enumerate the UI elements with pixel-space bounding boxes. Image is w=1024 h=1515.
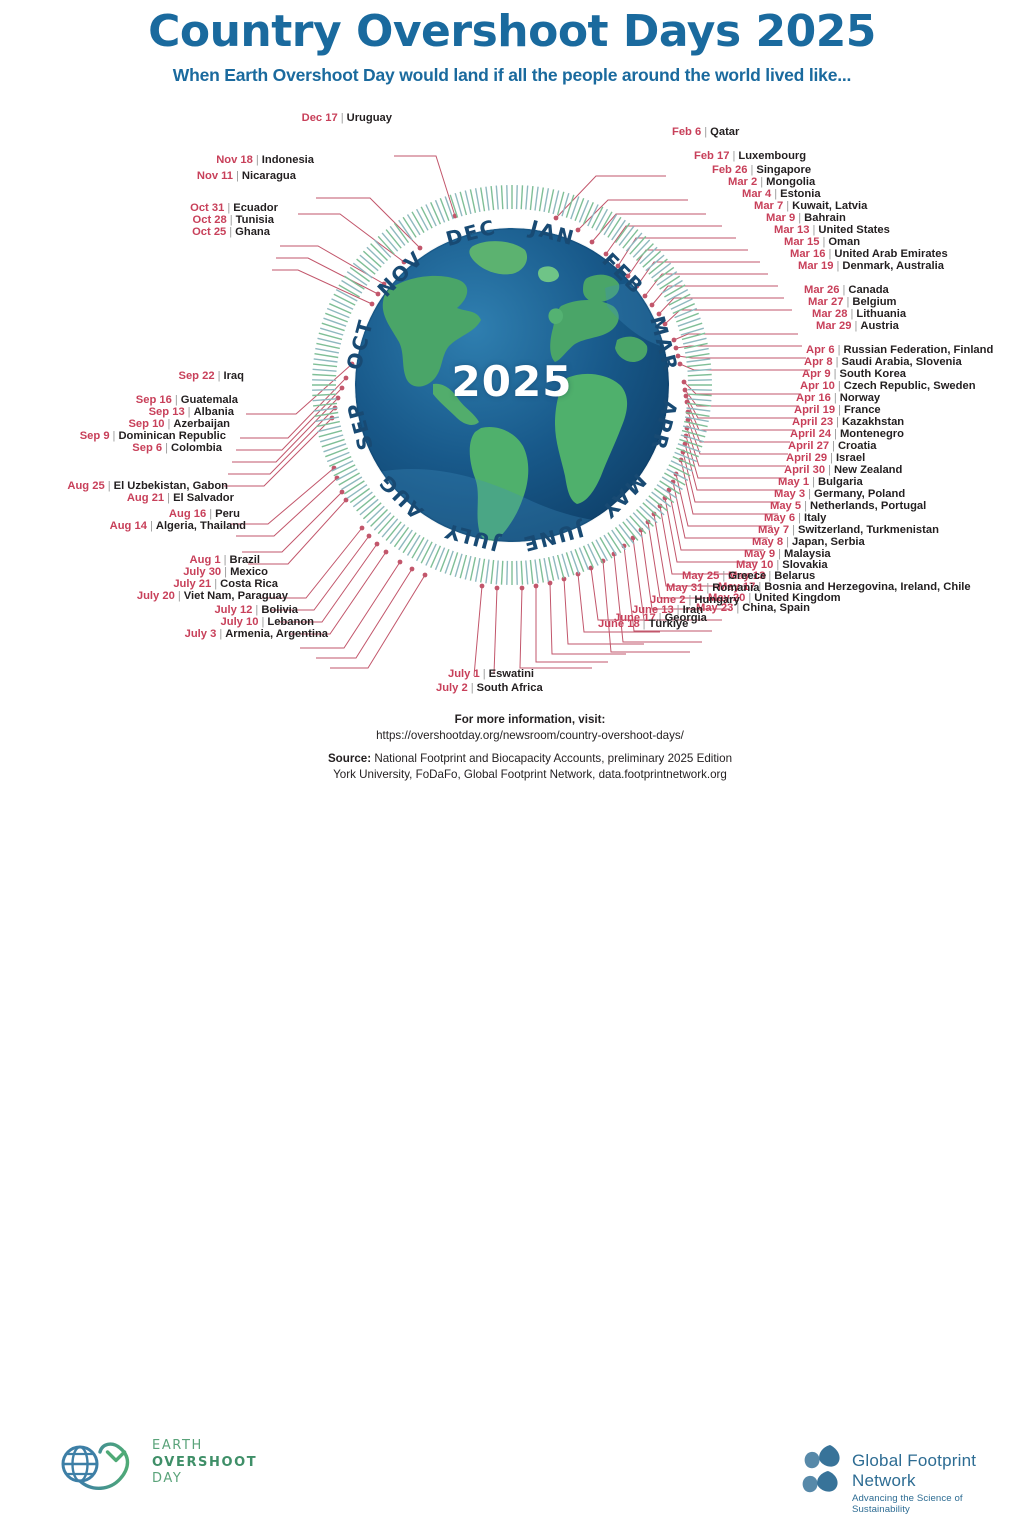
month-label-dec: DEC	[443, 215, 499, 252]
month-label-mar: MAR	[645, 313, 683, 375]
entry-separator: |	[185, 406, 194, 418]
entry-separator: |	[701, 126, 710, 138]
footer-text: For more information, visit: https://ove…	[250, 712, 810, 782]
entry-date: Mar 27	[808, 296, 843, 308]
entry-date: April 27	[788, 440, 829, 452]
entry-countries: Uruguay	[347, 112, 392, 124]
entry-separator: |	[253, 154, 262, 166]
entry-date: Mar 29	[816, 320, 851, 332]
entry-label-left: Nov 11|Nicaragua	[0, 170, 296, 183]
entry-date: May 6	[764, 512, 795, 524]
entry-separator: |	[783, 200, 792, 212]
entry-countries: Saudi Arabia, Slovenia	[842, 356, 962, 368]
entry-date: Oct 25	[192, 226, 226, 238]
entry-countries: Estonia	[780, 188, 820, 200]
entry-countries: Lebanon	[267, 616, 314, 628]
entry-countries: Indonesia	[262, 154, 314, 166]
entry-date: Sep 6	[132, 442, 162, 454]
entry-separator: |	[831, 392, 840, 404]
entry-countries: El Uzbekistan, Gabon	[114, 480, 228, 492]
entry-label-right: Feb 17|Luxembourg	[694, 150, 806, 163]
entry-date: Feb 6	[672, 126, 701, 138]
entry-separator: |	[825, 464, 834, 476]
entry-separator: |	[221, 566, 230, 578]
entry-separator: |	[252, 604, 261, 616]
entry-date: Sep 13	[149, 406, 185, 418]
entry-countries: Russian Federation, Finland	[844, 344, 994, 356]
entry-date: Aug 16	[169, 508, 206, 520]
entry-countries: Costa Rica	[220, 578, 278, 590]
entry-label-bottom: July 2|South Africa	[436, 682, 543, 695]
entry-countries: Germany, Poland	[814, 488, 905, 500]
footer-url[interactable]: https://overshootday.org/newsroom/countr…	[250, 728, 810, 744]
entry-date: Feb 17	[694, 150, 729, 162]
entry-date: Aug 1	[190, 554, 221, 566]
entry-countries: Israel	[836, 452, 865, 464]
eod-globe-infinity-icon	[58, 1434, 150, 1494]
eod-logo-line3: DAY	[152, 1471, 257, 1488]
entry-countries: Oman	[828, 236, 860, 248]
entry-date: Mar 15	[784, 236, 819, 248]
entry-countries: Bolivia	[261, 604, 298, 616]
entry-date: July 30	[183, 566, 221, 578]
entry-countries: United States	[818, 224, 890, 236]
entry-separator: |	[829, 440, 838, 452]
entry-separator: |	[338, 112, 347, 124]
entry-countries: Peru	[215, 508, 240, 520]
source-line2: York University, FoDaFo, Global Footprin…	[250, 767, 810, 783]
entry-countries: Singapore	[756, 164, 811, 176]
entry-separator: |	[835, 404, 844, 416]
entry-date: May 1	[778, 476, 809, 488]
entry-countries: Montenegro	[840, 428, 904, 440]
entry-separator: |	[827, 452, 836, 464]
month-label-oct: OCT	[342, 316, 379, 372]
entry-countries: Ecuador	[233, 202, 278, 214]
entry-date: Apr 9	[802, 368, 831, 380]
entry-countries: United Arab Emirates	[834, 248, 947, 260]
entry-countries: Armenia, Argentina	[225, 628, 328, 640]
entry-separator: |	[147, 520, 156, 532]
entry-date: Mar 9	[766, 212, 795, 224]
eod-logo-line1: EARTH	[152, 1438, 257, 1455]
infographic-stage: JANFEBMARAPRMAYJUNEJULYAUGSEPOCTNOVDEC 2…	[0, 96, 1024, 708]
month-label-july: JULY	[441, 518, 504, 556]
entry-separator: |	[172, 394, 181, 406]
entry-countries: Brazil	[230, 554, 260, 566]
entry-separator: |	[224, 202, 233, 214]
entry-date: Sep 22	[178, 370, 214, 382]
entry-separator: |	[835, 344, 844, 356]
entry-separator: |	[805, 488, 814, 500]
entry-countries: Austria	[860, 320, 899, 332]
entry-label-left: July 20|Viet Nam, Paraguay	[0, 590, 288, 603]
entry-date: Feb 26	[712, 164, 747, 176]
entry-separator: |	[809, 476, 818, 488]
entry-separator: |	[226, 226, 235, 238]
entry-countries: Algeria, Thailand	[156, 520, 246, 532]
entry-date: Oct 31	[190, 202, 224, 214]
entry-date: June 18	[598, 618, 640, 630]
entry-date: May 7	[758, 524, 789, 536]
entry-date: May 25	[682, 570, 719, 582]
entry-countries: Ghana	[235, 226, 270, 238]
month-label-june: JUNE	[519, 517, 588, 557]
entry-date: July 2	[436, 682, 468, 694]
entry-date: Sep 10	[128, 418, 164, 430]
entry-countries: Qatar	[710, 126, 739, 138]
entry-date: Sep 16	[136, 394, 172, 406]
entry-separator: |	[640, 618, 649, 630]
page-subtitle: When Earth Overshoot Day would land if a…	[0, 65, 1024, 86]
entry-label-right: Feb 6|Qatar	[672, 126, 739, 139]
gfn-tagline: Advancing the Science of Sustainability	[852, 1493, 1015, 1515]
entry-separator: |	[221, 554, 230, 566]
entry-label-left: Aug 14|Algeria, Thailand	[0, 520, 246, 533]
source-line1: National Footprint and Biocapacity Accou…	[374, 752, 732, 765]
entry-date: April 23	[792, 416, 833, 428]
entry-countries: Mexico	[230, 566, 268, 578]
month-label-feb: FEB	[597, 248, 649, 300]
entry-date: Mar 26	[804, 284, 839, 296]
entry-separator: |	[833, 356, 842, 368]
entry-countries: Czech Republic, Sweden	[844, 380, 976, 392]
entry-separator: |	[211, 578, 220, 590]
entry-countries: Colombia	[171, 442, 222, 454]
entry-date: Apr 8	[804, 356, 833, 368]
entry-date: Mar 28	[812, 308, 847, 320]
entry-date: Oct 28	[193, 214, 227, 226]
entry-date: May 8	[752, 536, 783, 548]
entry-date: Aug 25	[67, 480, 104, 492]
entry-separator: |	[831, 368, 840, 380]
entry-countries: Nicaragua	[242, 170, 296, 182]
entry-date: Aug 21	[127, 492, 164, 504]
entry-label-right: Mar 19|Denmark, Australia	[798, 260, 944, 273]
global-footprint-network-logo: Global Footprint Network Advancing the S…	[800, 1443, 1015, 1501]
month-label-nov: NOV	[373, 246, 429, 302]
entry-label-left: Sep 6|Colombia	[0, 442, 222, 455]
entry-separator: |	[801, 500, 810, 512]
entry-countries: Guatemala	[181, 394, 238, 406]
entry-separator: |	[105, 480, 114, 492]
entry-date: Aug 14	[110, 520, 147, 532]
entry-countries: France	[844, 404, 881, 416]
entry-separator: |	[771, 188, 780, 200]
entry-separator: |	[795, 212, 804, 224]
header: Country Overshoot Days 2025 When Earth O…	[0, 0, 1024, 86]
entry-separator: |	[480, 668, 489, 680]
entry-label-left: Dec 17|Uruguay	[0, 112, 392, 125]
gfn-footprint-icon	[800, 1443, 848, 1497]
entry-date: Mar 4	[742, 188, 771, 200]
entry-countries: Norway	[840, 392, 880, 404]
entry-label-right: June 18|Türkiye	[598, 618, 688, 631]
entry-separator: |	[164, 492, 173, 504]
entry-countries: Croatia	[838, 440, 877, 452]
entry-date: Apr 10	[800, 380, 835, 392]
entry-countries: New Zealand	[834, 464, 902, 476]
entry-countries: Türkiye	[649, 618, 689, 630]
entry-countries: Switzerland, Turkmenistan	[798, 524, 939, 536]
entry-date: May 5	[770, 500, 801, 512]
entry-date: July 20	[137, 590, 175, 602]
entry-countries: South Africa	[477, 682, 543, 694]
entry-date: Nov 18	[216, 154, 253, 166]
source-label: Source:	[328, 752, 371, 765]
entry-separator: |	[757, 176, 766, 188]
entry-countries: Azerbaijan	[173, 418, 230, 430]
entry-countries: Romania	[712, 582, 759, 594]
entry-countries: Iraq	[223, 370, 244, 382]
entry-date: Apr 6	[806, 344, 835, 356]
entry-label-left: Oct 25|Ghana	[0, 226, 270, 239]
entry-date: April 30	[784, 464, 825, 476]
entry-separator: |	[233, 170, 242, 182]
entry-countries: Bahrain	[804, 212, 846, 224]
entry-date: Mar 7	[754, 200, 783, 212]
entry-separator: |	[227, 214, 236, 226]
entry-separator: |	[719, 570, 728, 582]
earth-overshoot-day-logo: EARTH OVERSHOOT DAY	[58, 1434, 263, 1496]
entry-countries: El Salvador	[173, 492, 234, 504]
eod-logo-line2: OVERSHOOT	[152, 1455, 257, 1472]
page-title: Country Overshoot Days 2025	[0, 10, 1024, 54]
entry-countries: Japan, Serbia	[792, 536, 865, 548]
entry-countries: Eswatini	[489, 668, 534, 680]
entry-countries: South Korea	[840, 368, 907, 380]
entry-separator: |	[175, 590, 184, 602]
entry-countries: Tunisia	[236, 214, 274, 226]
entry-date: Mar 13	[774, 224, 809, 236]
more-info-label: For more information, visit:	[250, 712, 810, 728]
month-label-jan: JAN	[525, 215, 578, 251]
entry-label-right: Mar 29|Austria	[816, 320, 899, 333]
entry-separator: |	[468, 682, 477, 694]
entry-label-left: Sep 22|Iraq	[0, 370, 244, 383]
entry-date: Nov 11	[197, 170, 233, 182]
entry-date: Mar 2	[728, 176, 757, 188]
entry-date: July 10	[221, 616, 259, 628]
entry-date: Apr 16	[796, 392, 831, 404]
entry-date: April 24	[790, 428, 831, 440]
entry-date: Mar 16	[790, 248, 825, 260]
entry-separator: |	[162, 442, 171, 454]
entry-date: April 19	[794, 404, 835, 416]
entry-date: May 3	[774, 488, 805, 500]
entry-date: July 1	[448, 668, 480, 680]
entry-countries: Luxembourg	[738, 150, 806, 162]
entry-countries: Albania	[194, 406, 234, 418]
entry-date: Dec 17	[302, 112, 338, 124]
entry-label-left: July 3|Armenia, Argentina	[0, 628, 328, 641]
entry-countries: Dominican Republic	[118, 430, 226, 442]
entry-countries: Viet Nam, Paraguay	[184, 590, 288, 602]
year-label: 2025	[412, 357, 612, 406]
gfn-name: Global Footprint Network	[852, 1451, 1015, 1491]
entry-separator: |	[216, 628, 225, 640]
entry-date: May 31	[666, 582, 703, 594]
entry-label-bottom: July 1|Eswatini	[448, 668, 534, 681]
entry-date: July 3	[185, 628, 217, 640]
entry-countries: China, Spain	[742, 602, 810, 614]
entry-date: July 12	[214, 604, 252, 616]
entry-countries: Belgium	[852, 296, 896, 308]
entry-separator: |	[833, 416, 842, 428]
entry-countries: Denmark, Australia	[842, 260, 944, 272]
entry-date: April 29	[786, 452, 827, 464]
entry-separator: |	[789, 524, 798, 536]
entry-countries: Kazakhstan	[842, 416, 904, 428]
entry-countries: Mongolia	[766, 176, 815, 188]
entry-countries: Greece	[728, 570, 766, 582]
entry-date: Mar 19	[798, 260, 833, 272]
entry-countries: Italy	[804, 512, 826, 524]
entry-separator: |	[795, 512, 804, 524]
entry-separator: |	[703, 582, 712, 594]
month-label-aug: AUG	[373, 469, 428, 524]
entry-countries: Bulgaria	[818, 476, 863, 488]
entry-date: Sep 9	[80, 430, 110, 442]
entry-label-left: Nov 18|Indonesia	[0, 154, 314, 167]
month-label-sep: SEP	[342, 399, 378, 453]
month-label-may: MAY	[596, 469, 652, 525]
entry-label-left: Aug 21|El Salvador	[0, 492, 234, 505]
entry-separator: |	[835, 380, 844, 392]
footer: EARTH OVERSHOOT DAY For more information…	[0, 708, 1024, 797]
entry-date: July 21	[173, 578, 211, 590]
entry-countries: Lithuania	[856, 308, 906, 320]
entry-separator: |	[206, 508, 215, 520]
entry-countries: Netherlands, Portugal	[810, 500, 926, 512]
entry-countries: Kuwait, Latvia	[792, 200, 867, 212]
entry-separator: |	[783, 536, 792, 548]
entry-countries: Canada	[848, 284, 888, 296]
month-label-apr: APR	[646, 398, 683, 455]
entry-separator: |	[831, 428, 840, 440]
